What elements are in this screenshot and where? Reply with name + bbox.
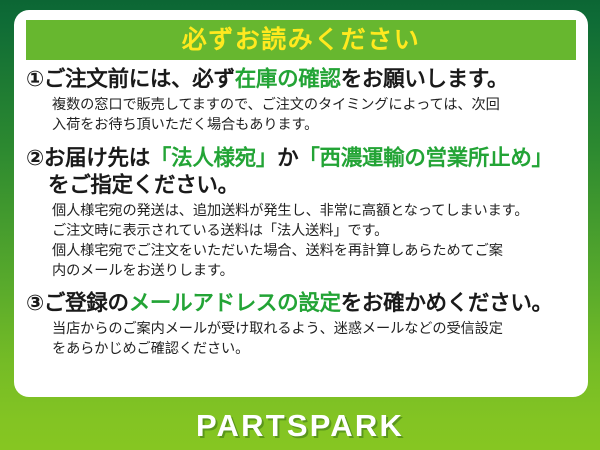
notice-heading-3: ③ご登録のメールアドレスの設定をお確かめください。 — [26, 290, 576, 318]
header-banner: 必ずお読みください — [26, 20, 576, 60]
notice-heading-2-highlight-2: 「西濃運輸の営業所止め」 — [298, 146, 552, 170]
notice-heading-3-highlight: メールアドレスの設定 — [129, 291, 341, 315]
notice-item-2: ②お届け先は「法人様宛」か「西濃運輸の営業所止め」をご指定ください。 個人様宅宛… — [26, 145, 576, 282]
notice-heading-2-part1: お届け先は — [44, 146, 150, 170]
notice-heading-2-mid: か — [277, 146, 298, 170]
notice-heading-1: ①ご注文前には、必ず在庫の確認をお願いします。 — [26, 66, 576, 94]
notice-body-2-line-4: 内のメールをお送りします。 — [52, 261, 576, 281]
brand-logo-text: PARTSPARK — [196, 410, 404, 441]
notice-marker-1: ① — [26, 67, 44, 91]
notice-body-1-line-1: 複数の窓口で販売してますので、ご注文のタイミングによっては、次回 — [52, 95, 576, 115]
notice-heading-2-highlight: 「法人様宛」 — [150, 146, 277, 170]
notice-heading-1-part2: をお願いします。 — [341, 67, 508, 91]
page-title: 必ずお読みください — [182, 28, 421, 53]
notice-heading-3-part2: をお確かめください。 — [341, 291, 553, 315]
notice-body-3-line-1: 当店からのご案内メールが受け取れるよう、迷惑メールなどの受信設定 — [52, 319, 576, 339]
notice-body-3: 当店からのご案内メールが受け取れるよう、迷惑メールなどの受信設定 をあらかじめご… — [26, 319, 576, 359]
notice-body-1: 複数の窓口で販売してますので、ご注文のタイミングによっては、次回 入荷をお待ち頂… — [26, 95, 576, 135]
notice-heading-2-line2: をご指定ください。 — [26, 172, 576, 200]
notice-body-2-line-2: ご注文時に表示されている送料は「法人送料」です。 — [52, 221, 576, 241]
notice-body-2: 個人様宅宛の発送は、追加送料が発生し、非常に高額となってしまいます。 ご注文時に… — [26, 201, 576, 282]
notice-panel: 必ずお読みください ①ご注文前には、必ず在庫の確認をお願いします。 複数の窓口で… — [0, 0, 600, 450]
notice-card: 必ずお読みください ①ご注文前には、必ず在庫の確認をお願いします。 複数の窓口で… — [14, 10, 588, 397]
notice-marker-2: ② — [26, 146, 44, 170]
notice-body-3-line-2: をあらかじめご確認ください。 — [52, 339, 576, 359]
footer-brand: PARTSPARK — [0, 400, 600, 450]
notice-body-2-line-1: 個人様宅宛の発送は、追加送料が発生し、非常に高額となってしまいます。 — [52, 201, 576, 221]
notice-heading-3-part1: ご登録の — [44, 291, 129, 315]
notice-heading-2: ②お届け先は「法人様宛」か「西濃運輸の営業所止め」をご指定ください。 — [26, 145, 576, 200]
notice-body-2-line-3: 個人様宅宛でご注文をいただいた場合、送料を再計算しあらためてご案 — [52, 241, 576, 261]
notice-marker-3: ③ — [26, 291, 44, 315]
notice-heading-1-highlight: 在庫の確認 — [235, 67, 341, 91]
notice-item-1: ①ご注文前には、必ず在庫の確認をお願いします。 複数の窓口で販売してますので、ご… — [26, 66, 576, 135]
notice-item-3: ③ご登録のメールアドレスの設定をお確かめください。 当店からのご案内メールが受け… — [26, 290, 576, 359]
notice-heading-1-part1: ご注文前には、必ず — [44, 67, 235, 91]
notice-body-1-line-2: 入荷をお待ち頂いただく場合もあります。 — [52, 115, 576, 135]
notice-list: ①ご注文前には、必ず在庫の確認をお願いします。 複数の窓口で販売してますので、ご… — [26, 66, 576, 359]
